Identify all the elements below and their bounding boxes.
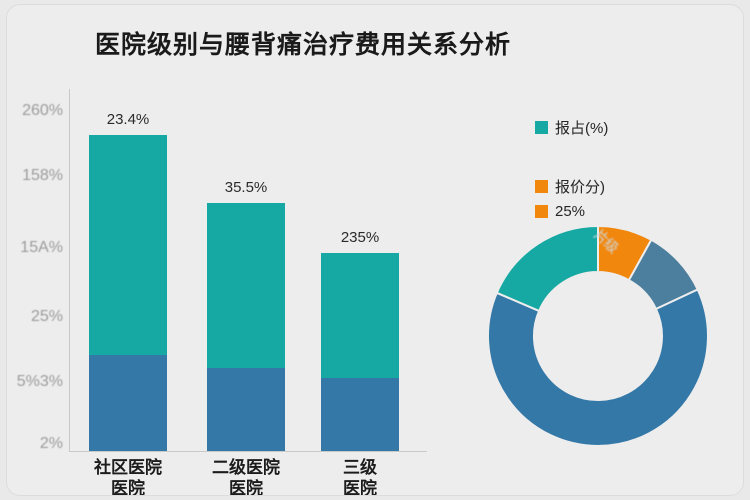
bar-value-label: 235% (341, 229, 379, 246)
bar-value-label: 23.4% (107, 111, 150, 128)
legend-swatch-icon (535, 121, 548, 134)
chart-card: 医院级别与腰背痛治疗费用关系分析 260% 158% 15A% 25% 5%3%… (6, 4, 744, 496)
legend-item[interactable]: 报价分) (535, 176, 695, 197)
bar-segment-top[interactable] (321, 253, 399, 378)
category-label-line2: 医院 (321, 478, 399, 496)
y-tick-label: 158% (22, 167, 63, 185)
page-title: 医院级别与腰背痛治疗费用关系分析 (95, 25, 511, 61)
legend-label: 报占(%) (555, 117, 608, 138)
bar-segment-bottom[interactable] (321, 378, 399, 451)
x-axis-line (69, 451, 427, 452)
chart-legend: 报占(%) 报价分) 25% (535, 117, 695, 226)
legend-spacer (535, 144, 695, 176)
x-axis-category-label: 三级 医院 (321, 457, 399, 496)
bar-chart-plot-area: 23.4% 35.5% 235% (69, 89, 429, 451)
legend-swatch-icon (535, 180, 548, 193)
legend-label: 报价分) (555, 176, 605, 197)
bar-column[interactable]: 35.5% (207, 203, 285, 451)
category-label-line1: 社区医院 (89, 457, 167, 478)
donut-slice-blue[interactable] (488, 290, 708, 446)
donut-chart: 片级 (475, 213, 721, 459)
legend-item[interactable]: 报占(%) (535, 117, 695, 138)
bar-column[interactable]: 23.4% (89, 135, 167, 451)
x-axis-category-label: 二级医院 医院 (207, 457, 285, 496)
donut-svg (475, 213, 721, 459)
donut-slice-teal[interactable] (497, 226, 598, 311)
y-tick-label: 2% (40, 435, 63, 453)
y-tick-label: 5%3% (17, 373, 63, 391)
bar-segment-bottom[interactable] (207, 368, 285, 451)
bar-column[interactable]: 235% (321, 253, 399, 451)
y-tick-label: 15A% (20, 239, 63, 257)
category-label-line1: 三级 (321, 457, 399, 478)
y-axis-tick-labels: 260% 158% 15A% 25% 5%3% 2% (11, 89, 63, 451)
category-label-line2: 医院 (207, 478, 285, 496)
category-label-line2: 医院 (89, 478, 167, 496)
y-tick-label: 25% (31, 308, 63, 326)
bar-segment-top[interactable] (207, 203, 285, 368)
x-axis-category-label: 社区医院 医院 (89, 457, 167, 496)
bar-value-label: 35.5% (225, 179, 268, 196)
bar-segment-top[interactable] (89, 135, 167, 355)
bar-segment-bottom[interactable] (89, 355, 167, 451)
y-tick-label: 260% (22, 102, 63, 120)
category-label-line1: 二级医院 (207, 457, 285, 478)
